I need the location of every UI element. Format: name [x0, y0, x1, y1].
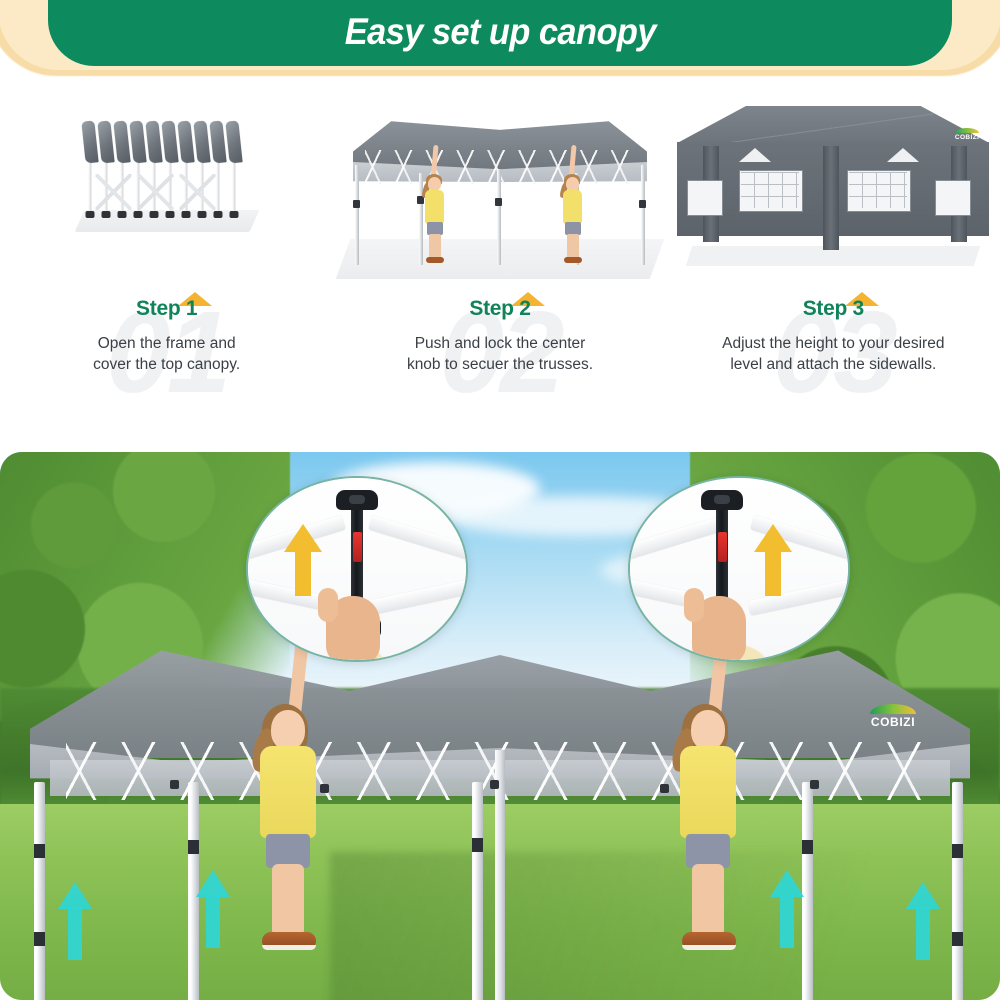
header-banner: Easy set up canopy — [0, 0, 1000, 80]
thumb — [684, 588, 704, 622]
open-canopy-icon — [335, 104, 665, 279]
push-up-arrow-icon — [284, 524, 322, 596]
folded-frame-icon — [79, 112, 254, 232]
step-description: Open the frame and cover the top canopy. — [93, 334, 240, 375]
red-latch-indicator — [353, 532, 362, 562]
height-up-arrow-icon — [770, 870, 804, 948]
step-description: Adjust the height to your desired level … — [722, 334, 944, 375]
height-lock-knob — [353, 200, 360, 208]
brand-logo-text: COBIZI — [871, 715, 915, 729]
push-up-arrow-icon — [754, 524, 792, 596]
height-lock-knob — [495, 198, 502, 206]
pole-top-hub — [701, 490, 743, 510]
window-grid — [849, 172, 907, 208]
brand-logo-text: COBIZI — [955, 134, 979, 141]
canopy-leg — [34, 782, 45, 1000]
step-1-illustration — [0, 98, 333, 283]
steps-row: 01 Step 1 Open the frame and cover the t… — [0, 98, 1000, 428]
page-title: Easy set up canopy — [344, 11, 655, 66]
canopy-leg — [355, 165, 359, 265]
height-up-arrow-icon — [196, 870, 230, 948]
step-description: Push and lock the center knob to secuer … — [407, 334, 593, 375]
height-lock-knob — [639, 200, 646, 208]
height-up-arrow-icon — [58, 882, 92, 960]
callout-left-center-knob — [246, 476, 468, 662]
pole-top-hub — [336, 490, 378, 510]
thumb — [318, 588, 338, 622]
person-right — [559, 165, 585, 261]
brand-logo-step3: COBIZI — [955, 128, 979, 141]
truss-node — [170, 780, 179, 789]
canopy-leg — [952, 782, 963, 1000]
canopy-leg — [497, 169, 501, 265]
brand-swoosh-icon — [870, 704, 916, 714]
canopy-leg — [641, 165, 645, 265]
gable-window — [887, 148, 919, 162]
sidewall-drape — [823, 146, 839, 250]
height-up-arrow-icon — [906, 882, 940, 960]
brand-swoosh-icon — [955, 128, 979, 133]
infographic-page: Easy set up canopy — [0, 0, 1000, 1000]
step-card-2: 02 Step 2 Push and lock the center knob … — [333, 98, 666, 428]
canopy-leg — [472, 782, 483, 1000]
step-1-heading: Step 1 — [136, 297, 197, 327]
side-window — [687, 180, 723, 216]
step-2-illustration — [333, 98, 666, 283]
step-2-heading: Step 2 — [469, 297, 530, 327]
truss-node — [490, 780, 499, 789]
brand-logo-photo: COBIZI — [870, 704, 916, 729]
step-label: Step 3 — [803, 297, 864, 321]
step-card-3: COBIZI 03 Step 3 Adjust the height to yo… — [667, 98, 1000, 428]
truss-node — [810, 780, 819, 789]
person-left — [252, 696, 334, 958]
person-left — [421, 165, 447, 261]
canopy-with-sidewalls-icon: COBIZI — [673, 102, 993, 272]
step-label: Step 1 — [136, 297, 197, 321]
banner-green-panel: Easy set up canopy — [48, 0, 952, 66]
hero-photo: COBIZI — [0, 452, 1000, 1000]
canopy — [20, 632, 980, 962]
red-latch-indicator — [718, 532, 727, 562]
step-3-heading: Step 3 — [803, 297, 864, 327]
step-card-1: 01 Step 1 Open the frame and cover the t… — [0, 98, 333, 428]
person-right — [672, 696, 754, 958]
window-grid — [741, 172, 799, 208]
gable-window — [739, 148, 771, 162]
truss-node — [660, 784, 669, 793]
callout-right-center-knob — [628, 476, 850, 662]
side-window — [935, 180, 971, 216]
step-3-illustration: COBIZI — [667, 98, 1000, 283]
step-label: Step 2 — [469, 297, 530, 321]
